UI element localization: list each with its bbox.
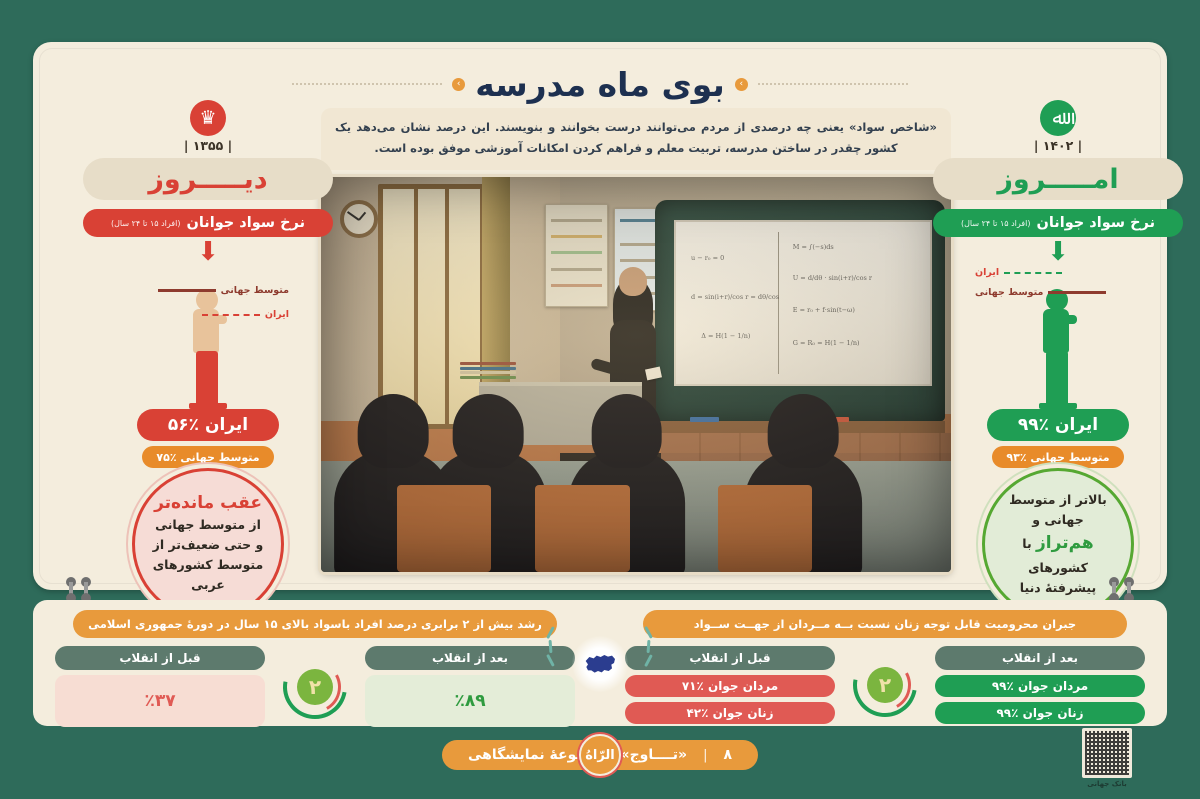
marker-iran-label: ایران <box>265 309 289 320</box>
title-rule-left <box>292 83 442 85</box>
person-figure-yesterday <box>187 289 229 409</box>
growth-after-value: ٪۸۹ <box>365 675 575 727</box>
footer-separator: | <box>703 748 707 763</box>
classroom-window <box>378 184 485 429</box>
center-map-emblem <box>545 618 655 710</box>
gender-growth-ring: ۲ <box>849 646 921 724</box>
gender-after-men: مردان جوان ٪۹۹ <box>935 675 1145 697</box>
year-today: | ۱۴۰۲ | <box>933 138 1183 153</box>
era-label-yesterday: دیـــــروز <box>83 158 333 200</box>
gender-ring-value: ۲ <box>867 667 903 703</box>
book-stack <box>460 362 517 386</box>
gender-before-men: مردان جوان ٪۷۱ <box>625 675 835 697</box>
qr-caption: بانک جهانی <box>1076 780 1138 788</box>
iran-map-icon <box>583 651 617 677</box>
panel-yesterday: ♛ | ۱۳۵۵ | دیـــــروز نرخ سواد جوانان (ا… <box>83 100 333 468</box>
title-dot-right-icon: › <box>735 78 748 91</box>
gender-after-head: بعد از انقلاب <box>935 646 1145 670</box>
marker-world-line <box>158 289 216 292</box>
person-figure-today <box>1037 289 1079 409</box>
map-glow <box>572 636 628 692</box>
year-yesterday: | ۱۳۵۵ | <box>83 138 333 153</box>
stat-iran-yesterday: ایران ٪۵۶ <box>137 409 279 441</box>
marker-iran-yesterday: ایران <box>202 309 289 320</box>
main-board: › بوی ماه مدرسه › «شاخص سواد» یعنی چه در… <box>33 42 1167 590</box>
badge-line1-today: بالاتر از متوسط جهانی و <box>1001 490 1115 531</box>
qr-block[interactable]: بانک جهانی <box>1076 728 1138 788</box>
figure-zone-yesterday: متوسط جهانی ایران <box>83 261 333 409</box>
panel-today: ﷲ | ۱۴۰۲ | امـــــروز نرخ سواد جوانان (ا… <box>933 100 1183 468</box>
growth-before-head: قبل از انقلاب <box>55 646 265 670</box>
marker-iran-today: ایران <box>975 267 1062 278</box>
iran-emblem-icon: ﷲ <box>1040 100 1076 136</box>
growth-before-value: ٪۳۷ <box>55 675 265 727</box>
growth-after-head: بعد از انقلاب <box>365 646 575 670</box>
chair-2 <box>535 485 630 572</box>
stat-world-today: متوسط جهانی ٪۹۳ <box>992 446 1124 468</box>
rate-age-note: (افراد ۱۵ تا ۲۴ سال) <box>111 219 180 228</box>
footer-series: «تــــاوج» <box>621 747 688 763</box>
era-label-today: امـــــروز <box>933 158 1183 200</box>
badge-line3-today: پیشرفتهٔ دنیا <box>1020 578 1096 598</box>
stat-iran-today: ایران ٪۹۹ <box>987 409 1129 441</box>
crown-icon: ♛ <box>190 100 226 136</box>
rate-title-today: نرخ سواد جوانان (افراد ۱۵ تا ۲۴ سال) <box>933 209 1183 237</box>
center-column: «شاخص سواد» یعنی چه درصدی از مردم می‌توا… <box>321 108 951 624</box>
title-rule-right <box>758 83 908 85</box>
footer-number: ۸ <box>723 747 732 763</box>
classroom-scene: M = ∫(−s)ds U = d/dθ · sin(i+r)/cos r E … <box>321 177 951 572</box>
growth-before-column: قبل از انقلاب ٪۳۷ <box>55 646 265 727</box>
footer-seal-icon: الرّاهُ <box>579 734 621 776</box>
infographic-root: › بوی ماه مدرسه › «شاخص سواد» یعنی چه در… <box>0 0 1200 799</box>
marker-world-average-yesterday: متوسط جهانی <box>158 285 289 296</box>
intro-paragraph: «شاخص سواد» یعنی چه درصدی از مردم می‌توا… <box>321 108 951 170</box>
badge-body-yesterday: از متوسط جهانی و حتی ضعیف‌تر از متوسط کش… <box>151 515 265 596</box>
stats-gender-block: جبران محرومیت قابل توجه زنان نسبت بــه م… <box>625 610 1145 716</box>
rate-title-text: نرخ سواد جوانان <box>1036 215 1155 231</box>
chair-1 <box>397 485 492 572</box>
gender-before-column: قبل از انقلاب مردان جوان ٪۷۱ زنان جوان ٪… <box>625 646 835 724</box>
classroom-illustration: M = ∫(−s)ds U = d/dθ · sin(i+r)/cos r E … <box>321 177 951 572</box>
page-title: بوی ماه مدرسه <box>475 65 725 104</box>
gender-before-head: قبل از انقلاب <box>625 646 835 670</box>
rate-title-yesterday: نرخ سواد جوانان (افراد ۱۵ تا ۲۴ سال) <box>83 209 333 237</box>
era-text: دیـــــروز <box>148 164 267 195</box>
stats-gender-headline: جبران محرومیت قابل توجه زنان نسبت بــه م… <box>643 610 1127 638</box>
title-dot-left-icon: › <box>452 78 465 91</box>
gender-before-women: زنان جوان ٪۴۲ <box>625 702 835 724</box>
marker-iran-label: ایران <box>975 267 999 278</box>
rate-title-text: نرخ سواد جوانان <box>186 215 305 231</box>
wall-clock-icon <box>340 200 378 238</box>
bottom-stats-strip: جبران محرومیت قابل توجه زنان نسبت بــه م… <box>33 600 1167 726</box>
stats-growth-headline: رشد بیش از ۲ برابری درصد افراد باسواد با… <box>73 610 557 638</box>
badge-accent-today: هم‌تراز <box>1036 533 1094 553</box>
wall-poster-1 <box>545 204 608 307</box>
chair-3 <box>718 485 813 572</box>
marker-iran-line <box>202 314 260 316</box>
gender-after-column: بعد از انقلاب مردان جوان ٪۹۹ زنان جوان ٪… <box>935 646 1145 724</box>
marker-world-label: متوسط جهانی <box>221 285 289 296</box>
growth-ring: ۲ <box>279 646 351 727</box>
qr-code[interactable] <box>1082 728 1132 778</box>
whiteboard: M = ∫(−s)ds U = d/dθ · sin(i+r)/cos r E … <box>674 220 932 386</box>
stat-world-yesterday: متوسط جهانی ٪۷۵ <box>142 446 274 468</box>
growth-ring-value: ۲ <box>297 669 333 705</box>
marker-iran-line <box>1004 272 1062 274</box>
badge-line2-today: هم‌تراز با کشورهای <box>1001 530 1115 578</box>
marker-world-average-today: متوسط جهانی <box>975 287 1106 298</box>
growth-after-column: بعد از انقلاب ٪۸۹ <box>365 646 575 727</box>
figure-zone-today: ایران متوسط جهانی <box>933 261 1183 409</box>
marker-world-line <box>1048 291 1106 294</box>
rate-age-note: (افراد ۱۵ تا ۲۴ سال) <box>961 219 1030 228</box>
marker-world-label: متوسط جهانی <box>975 287 1043 298</box>
footer-bar: ۸ | «تــــاوج» الرّاهُ مجموعهٔ نمایشگاهی <box>442 740 758 770</box>
gender-after-women: زنان جوان ٪۹۹ <box>935 702 1145 724</box>
era-text: امـــــروز <box>997 164 1118 195</box>
stats-growth-block: رشد بیش از ۲ برابری درصد افراد باسواد با… <box>55 610 575 716</box>
badge-yesterday: عقب مانده‌تر از متوسط جهانی و حتی ضعیف‌ت… <box>132 468 284 620</box>
badge-head-yesterday: عقب مانده‌تر <box>154 493 262 513</box>
